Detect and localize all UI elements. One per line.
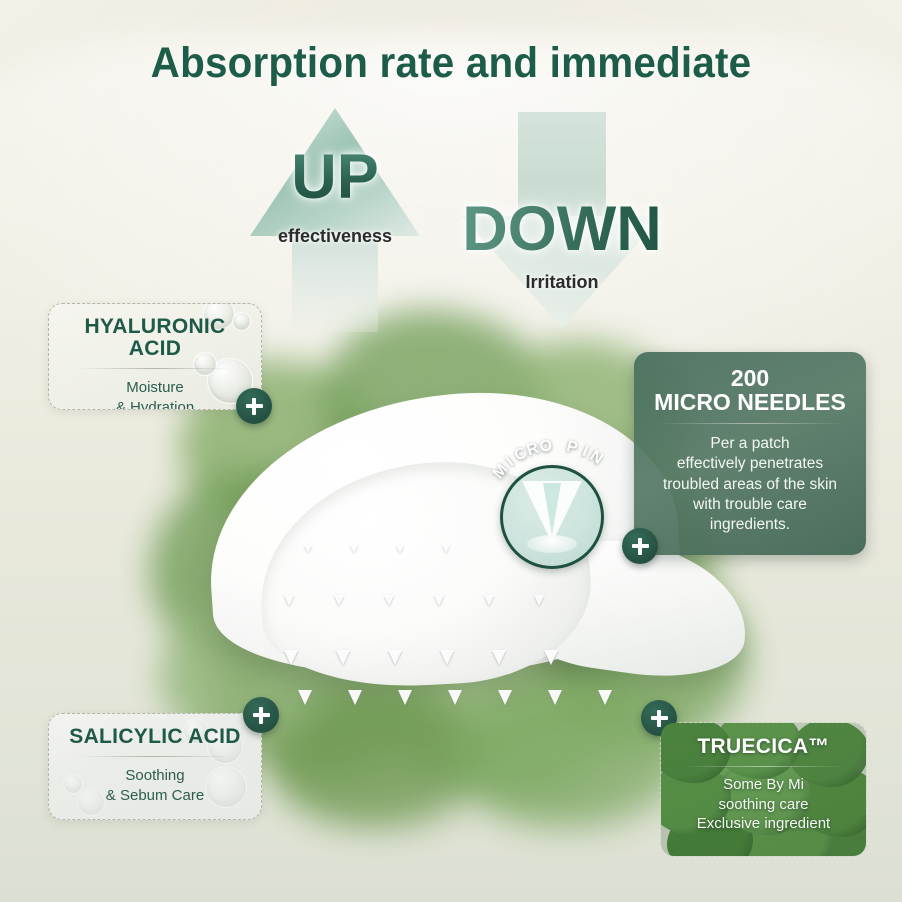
needle-pin bbox=[434, 595, 444, 606]
arrow-down-label: DOWN bbox=[454, 198, 670, 261]
card-divider bbox=[79, 368, 231, 369]
needle-pin bbox=[336, 650, 350, 665]
card-truecica-desc-line1: Some By Mi bbox=[671, 775, 856, 795]
needle-pin bbox=[440, 650, 454, 665]
card-truecica-title: TRUECICA™ bbox=[671, 736, 856, 758]
arrow-down-sublabel: Irritation bbox=[462, 272, 662, 293]
card-divider bbox=[656, 423, 844, 424]
needle-pin bbox=[442, 545, 450, 553]
needle-pin bbox=[492, 650, 506, 665]
needle-pin bbox=[396, 545, 404, 553]
needle-pin bbox=[448, 690, 462, 705]
arrow-up-sublabel: effectiveness bbox=[250, 226, 420, 247]
card-micro-needles-title: MICRO NEEDLES bbox=[646, 390, 854, 414]
card-micro-needles-desc-line4: with trouble care bbox=[646, 495, 854, 515]
page-title: Absorption rate and immediate bbox=[27, 42, 875, 85]
card-hyaluronic-acid[interactable]: HYALURONIC ACID Moisture & Hydration bbox=[48, 303, 262, 410]
needle-pin bbox=[498, 690, 512, 705]
needle-pin bbox=[384, 595, 394, 606]
needle-pin bbox=[334, 595, 344, 606]
arrow-down-group: DOWN Irritation bbox=[462, 112, 662, 330]
card-micro-needles-title-count: 200 bbox=[646, 366, 854, 390]
needle-pin bbox=[534, 595, 544, 606]
needle-pin bbox=[298, 690, 312, 705]
card-truecica-desc-line2: soothing care bbox=[671, 795, 856, 815]
card-micro-needles[interactable]: 200 MICRO NEEDLES Per a patch effectivel… bbox=[634, 352, 866, 555]
needle-pin bbox=[350, 545, 358, 553]
needle-pin bbox=[348, 690, 362, 705]
card-salicylic-acid[interactable]: SALICYLIC ACID Soothing & Sebum Care bbox=[48, 713, 262, 820]
needle-pin bbox=[388, 650, 402, 665]
card-salicylic-title: SALICYLIC ACID bbox=[63, 726, 247, 748]
card-truecica[interactable]: TRUECICA™ Some By Mi soothing care Exclu… bbox=[660, 722, 867, 857]
needle-pin bbox=[484, 595, 494, 606]
card-micro-needles-desc-line1: Per a patch bbox=[646, 434, 854, 454]
card-micro-needles-desc-line2: effectively penetrates bbox=[646, 454, 854, 474]
arrow-up-label: UP bbox=[250, 146, 420, 209]
card-salicylic-desc-line2: & Sebum Care bbox=[63, 786, 247, 806]
needle-pin bbox=[548, 690, 562, 705]
card-hyaluronic-desc-line2: & Hydration bbox=[63, 398, 247, 410]
needle-pin bbox=[304, 545, 312, 553]
micro-pin-cone-highlight bbox=[543, 483, 561, 535]
needle-pin bbox=[598, 690, 612, 705]
infographic-canvas: Absorption rate and immediate UP effecti… bbox=[0, 0, 902, 902]
needle-pin bbox=[284, 595, 294, 606]
card-divider bbox=[683, 766, 844, 767]
micro-pin-base bbox=[527, 535, 577, 553]
micro-pin-badge bbox=[500, 465, 604, 569]
card-divider bbox=[79, 756, 231, 757]
card-salicylic-desc-line1: Soothing bbox=[63, 766, 247, 786]
card-micro-needles-desc-line5: ingredients. bbox=[646, 515, 854, 535]
arrow-up-shaft bbox=[292, 232, 378, 332]
card-hyaluronic-title: HYALURONIC ACID bbox=[63, 316, 247, 360]
card-hyaluronic-desc-line1: Moisture bbox=[63, 378, 247, 398]
arrow-up-group: UP effectiveness bbox=[250, 108, 420, 330]
needle-pin bbox=[544, 650, 558, 665]
card-micro-needles-desc-line3: troubled areas of the skin bbox=[646, 475, 854, 495]
needle-pin bbox=[398, 690, 412, 705]
needle-pin bbox=[284, 650, 298, 665]
card-truecica-desc-line3: Exclusive ingredient bbox=[671, 814, 856, 834]
